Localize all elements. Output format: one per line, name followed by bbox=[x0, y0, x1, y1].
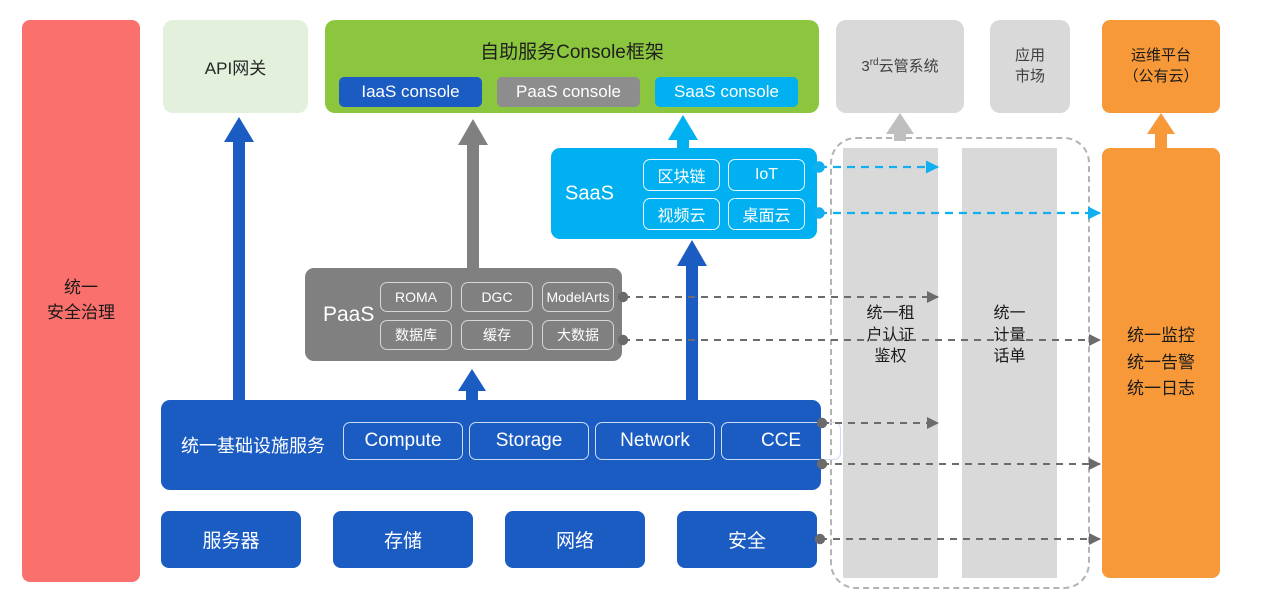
arrow-infra-to-paas bbox=[458, 369, 486, 400]
arrow-infra-to-api-gateway bbox=[218, 117, 254, 400]
arrow-infra-to-saas bbox=[677, 240, 707, 400]
arrow-shared-to-third-party bbox=[886, 113, 914, 141]
arrow-ops-panel-to-ops-platform bbox=[1147, 113, 1175, 148]
connector-arrows-layer bbox=[0, 0, 1265, 605]
architecture-diagram: 统一 安全治理 API网关 自助服务Console框架 IaaS console… bbox=[0, 0, 1265, 605]
arrow-paas-to-console bbox=[458, 119, 488, 268]
arrow-saas-to-saas-console bbox=[668, 115, 698, 151]
